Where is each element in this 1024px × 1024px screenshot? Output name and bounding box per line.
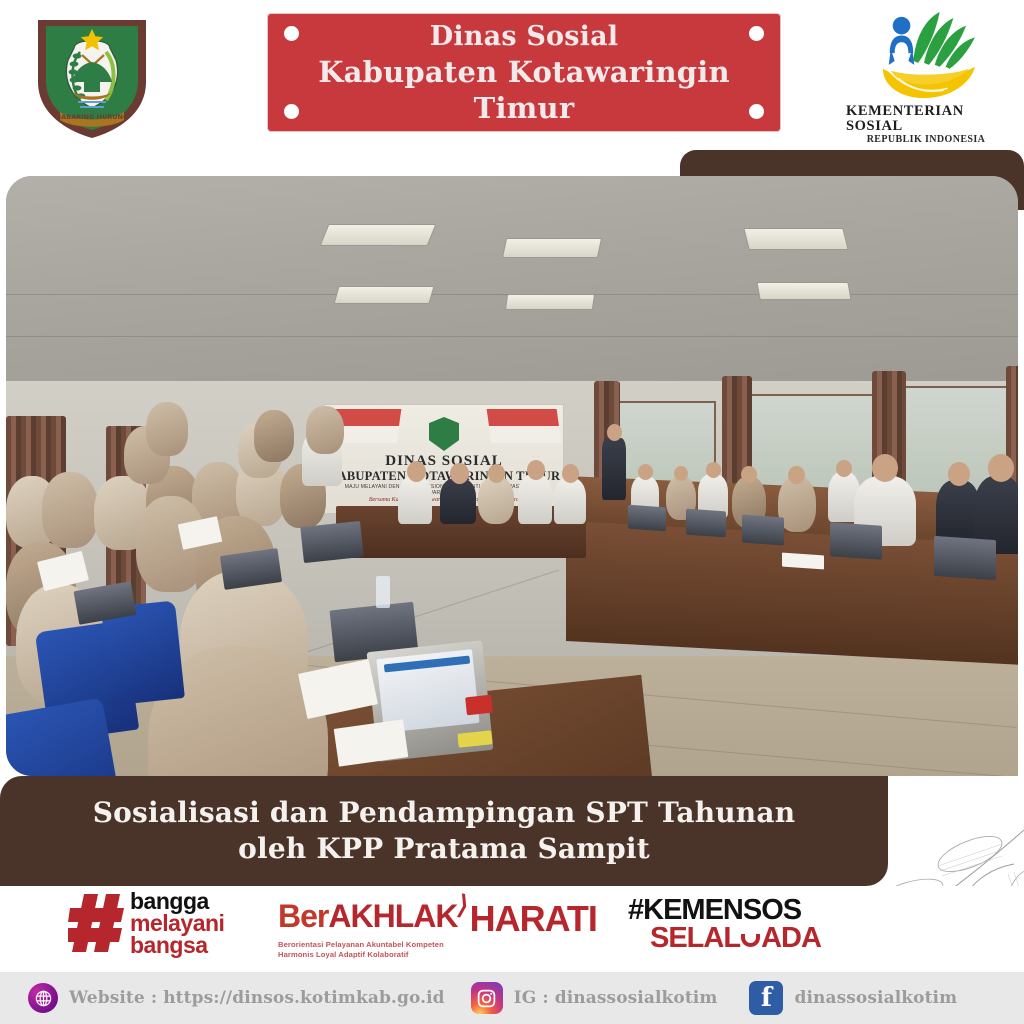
person — [450, 463, 469, 484]
event-photo: DINAS SOSIAL KABUPATEN KOTAWARINGIN TIMU… — [6, 176, 1018, 776]
kemensos-hashtag-text: #KEMENSOS — [628, 896, 821, 924]
kemensos-logo-line2: REPUBLIK INDONESIA — [867, 135, 986, 145]
caption-line2: oleh KPP Pratama Sampit — [238, 831, 650, 867]
small-box — [465, 695, 493, 716]
berakhlak-subtitle-1: Berorientasi Pelayanan Akuntabel Kompete… — [278, 940, 597, 950]
person — [674, 466, 688, 481]
instagram-item[interactable]: IG : dinassosialkotim — [471, 982, 718, 1014]
partner-logo-strip: bangga melayani bangsa Ber AKHLAK ⟩ HARA… — [0, 886, 1024, 972]
plaque-screw-dot — [284, 26, 299, 41]
person — [988, 454, 1014, 482]
person — [562, 464, 579, 483]
instagram-icon — [471, 982, 503, 1014]
plaque-title-line2: Kabupaten Kotawaringin Timur — [268, 54, 780, 126]
kemensos-logo-line1: KEMENTERIAN SOSIAL — [846, 104, 1006, 133]
footer-bar: Website : https://dinsos.kotimkab.go.id … — [0, 972, 1024, 1024]
person — [478, 476, 514, 524]
facebook-icon: f — [749, 981, 783, 1015]
kemensos-selalu-ada-logo: #KEMENSOS SELAL ADA — [628, 896, 821, 952]
kementerian-sosial-logo: KEMENTERIAN SOSIAL REPUBLIK INDONESIA — [846, 10, 1006, 145]
ada-text: ADA — [761, 924, 821, 952]
person — [638, 464, 653, 480]
document — [782, 553, 824, 570]
caption-bar: Sosialisasi dan Pendampingan SPT Tahunan… — [0, 776, 888, 886]
header-bar: HABARING HURUNG Dinas Sosial Kabupaten K… — [0, 0, 1024, 150]
title-plaque: Dinas Sosial Kabupaten Kotawaringin Timu… — [268, 14, 780, 131]
smile-curve-icon — [741, 934, 760, 947]
person — [741, 466, 757, 483]
berakhlak-akhlak-text: AKHLAK — [328, 898, 457, 935]
berakhlak-subtitle-2: Harmonis Loyal Adaptif Kolaboratif — [278, 950, 597, 960]
website-label: Website : https://dinsos.kotimkab.go.id — [69, 988, 445, 1008]
plaque-screw-dot — [749, 104, 764, 119]
person — [407, 461, 426, 482]
plaque-title-line1: Dinas Sosial — [430, 20, 619, 54]
instagram-label: IG : dinassosialkotim — [514, 988, 718, 1008]
person — [836, 460, 852, 477]
person — [872, 454, 898, 482]
kemensos-selalu-ada-text: SELAL ADA — [628, 924, 821, 952]
person — [527, 460, 545, 480]
kemensos-mark-icon — [866, 10, 986, 103]
person — [440, 478, 476, 524]
laptop — [742, 515, 784, 546]
person — [706, 462, 721, 478]
kabupaten-kotim-logo: HABARING HURUNG — [22, 12, 162, 142]
globe-icon — [28, 983, 58, 1013]
laptop — [830, 522, 882, 560]
person — [488, 464, 505, 483]
person — [306, 406, 344, 454]
bangga-logo-words: bangga melayani bangsa — [130, 890, 224, 956]
website-item[interactable]: Website : https://dinsos.kotimkab.go.id — [28, 983, 445, 1013]
photo-scene: DINAS SOSIAL KABUPATEN KOTAWARINGIN TIMU… — [6, 176, 1018, 776]
berakhlak-harati-logo: Ber AKHLAK ⟩ HARATI Berorientasi Pelayan… — [278, 898, 597, 960]
bangga-melayani-bangsa-logo: bangga melayani bangsa — [68, 890, 224, 956]
laptop — [934, 536, 996, 580]
plaque-screw-dot — [749, 26, 764, 41]
bangga-word-3: bangsa — [130, 934, 224, 956]
plaque-screw-dot — [284, 104, 299, 119]
person — [602, 438, 626, 500]
person — [554, 478, 586, 524]
caption-line1: Sosialisasi dan Pendampingan SPT Tahunan — [93, 795, 796, 831]
person — [398, 476, 432, 524]
person — [607, 424, 622, 441]
person — [254, 410, 294, 462]
berakhlak-ber-text: Ber — [278, 898, 328, 935]
person — [42, 472, 98, 548]
emblem-motto-text: HABARING HURUNG — [56, 113, 129, 121]
person — [146, 402, 188, 456]
person — [518, 474, 552, 524]
bangga-word-2: melayani — [130, 912, 224, 934]
person — [788, 466, 805, 484]
room-ceiling — [6, 176, 1018, 386]
person — [948, 462, 970, 486]
laptop — [628, 505, 666, 532]
laptop — [686, 509, 726, 538]
facebook-label: dinassosialkotim — [794, 988, 957, 1008]
berakhlak-harati-text: HARATI — [470, 898, 597, 940]
hashtag-icon — [68, 892, 124, 954]
selalu-text: SELAL — [650, 924, 740, 952]
facebook-item[interactable]: f dinassosialkotim — [749, 981, 957, 1015]
laptop — [300, 521, 363, 563]
bangga-word-1: bangga — [130, 890, 224, 912]
drinking-glass — [376, 576, 390, 608]
